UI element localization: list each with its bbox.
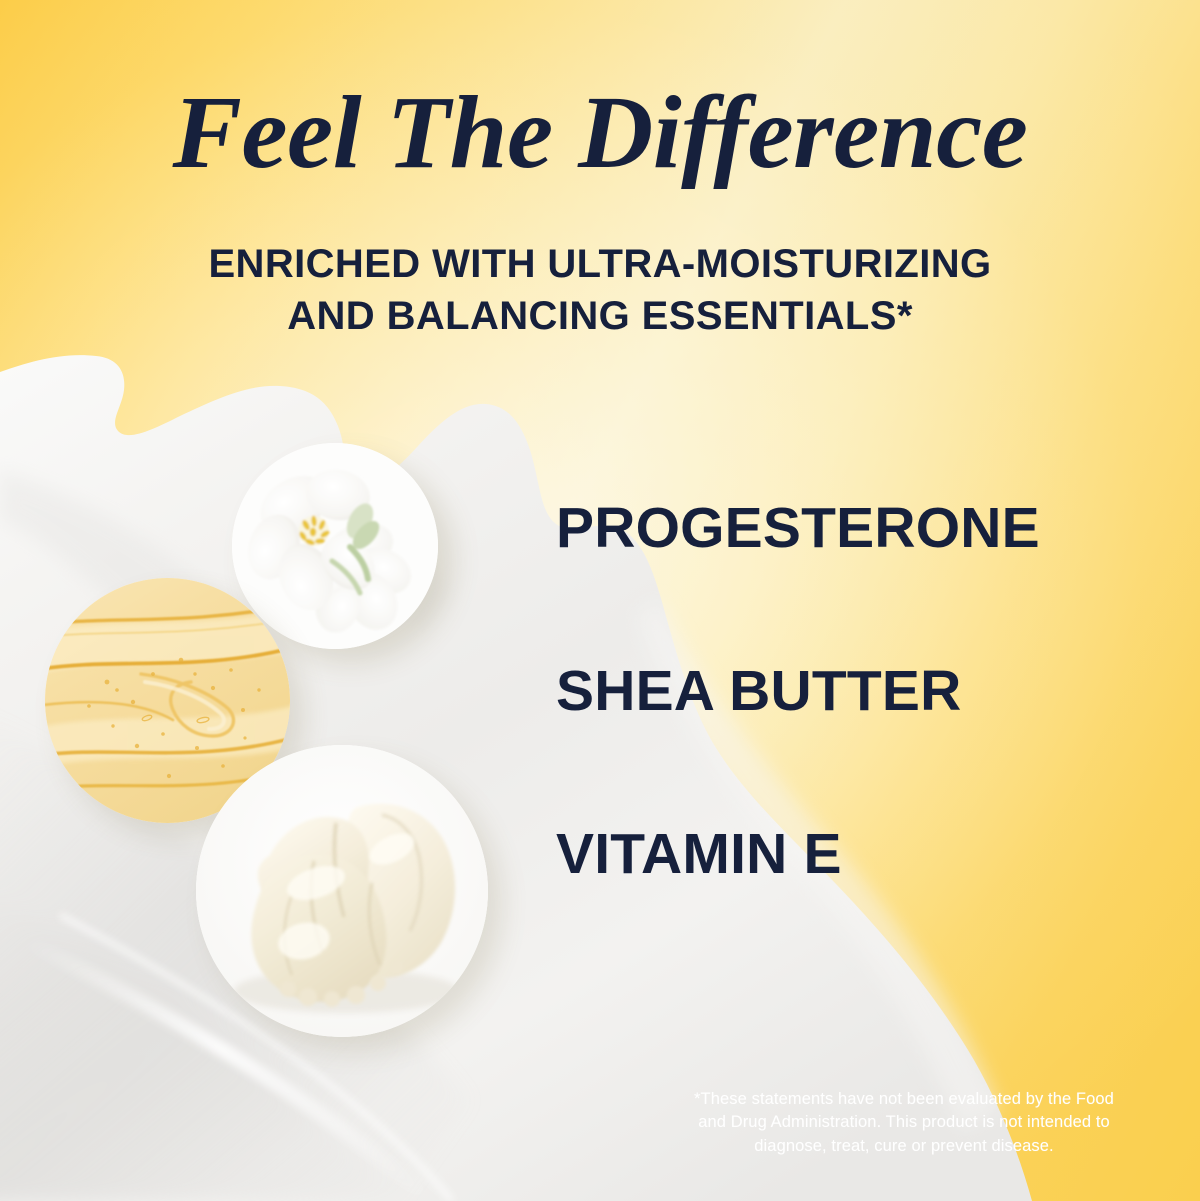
ingredient-label-list: PROGESTERONE SHEA BUTTER VITAMIN E [556, 500, 1176, 883]
disclaimer-line-2: and Drug Administration. This product is… [636, 1111, 1172, 1134]
ingredient-label-vitamin-e: VITAMIN E [556, 826, 1176, 883]
ingredient-image-progesterone [232, 443, 438, 649]
disclaimer-line-3: diagnose, treat, cure or prevent disease… [636, 1135, 1172, 1158]
subtitle-line-2: AND BALANCING ESSENTIALS* [0, 290, 1200, 342]
disclaimer-line-1: *These statements have not been evaluate… [636, 1088, 1172, 1111]
subtitle: ENRICHED WITH ULTRA-MOISTURIZING AND BAL… [0, 238, 1200, 342]
ingredient-label-shea-butter: SHEA BUTTER [556, 663, 1176, 720]
ingredient-label-progesterone: PROGESTERONE [556, 500, 1176, 557]
subtitle-line-1: ENRICHED WITH ULTRA-MOISTURIZING [0, 238, 1200, 290]
page-title: Feel The Difference [0, 78, 1200, 188]
fda-disclaimer: *These statements have not been evaluate… [636, 1088, 1172, 1158]
ingredient-image-shea-butter [196, 745, 488, 1037]
product-benefits-poster: Feel The Difference ENRICHED WITH ULTRA-… [0, 0, 1200, 1201]
